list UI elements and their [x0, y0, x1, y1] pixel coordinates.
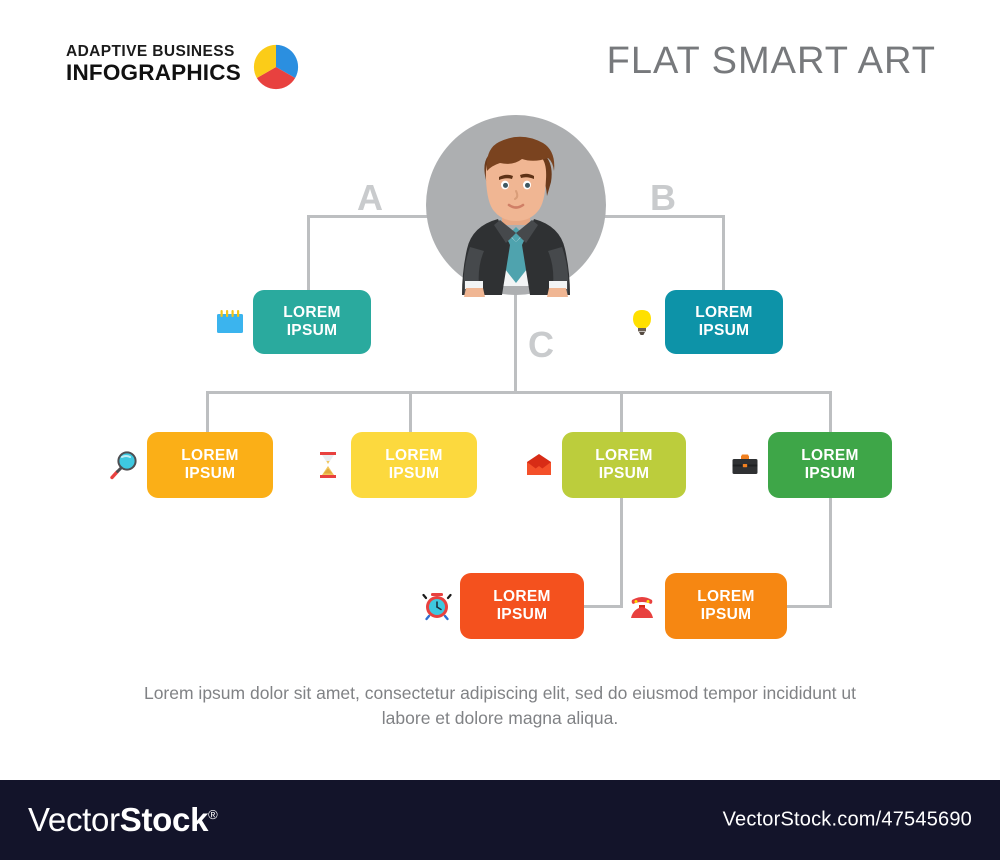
connector-a-drop	[307, 215, 310, 291]
connector-c-drop	[514, 288, 517, 394]
envelope-icon	[524, 450, 554, 480]
node-c4[interactable]: LOREM IPSUM	[768, 432, 892, 498]
node-d1-line2: IPSUM	[497, 606, 548, 624]
lightbulb-icon	[627, 307, 657, 337]
node-d2-box[interactable]: LOREM IPSUM	[665, 573, 787, 639]
connector-c3-to-d1-horizontal	[578, 605, 623, 608]
vectorstock-url: VectorStock.com/47545690	[723, 809, 972, 832]
node-b1[interactable]: LOREM IPSUM	[665, 290, 783, 354]
node-a1-box[interactable]: LOREM IPSUM	[253, 290, 371, 354]
node-c1-box[interactable]: LOREM IPSUM	[147, 432, 273, 498]
node-c2-line1: LOREM	[385, 447, 442, 465]
node-c3-box[interactable]: LOREM IPSUM	[562, 432, 686, 498]
connector-c3-drop	[620, 391, 623, 435]
node-c4-box[interactable]: LOREM IPSUM	[768, 432, 892, 498]
node-b1-line2: IPSUM	[699, 322, 750, 340]
node-a1-line2: IPSUM	[287, 322, 338, 340]
node-b1-line1: LOREM	[695, 304, 752, 322]
connector-c1-drop	[206, 391, 209, 435]
brand-logo: ADAPTIVE BUSINESS INFOGRAPHICS	[66, 44, 241, 85]
hourglass-icon	[313, 450, 343, 480]
node-d1[interactable]: LOREM IPSUM	[460, 573, 584, 639]
brand-logo-line2: INFOGRAPHICS	[66, 61, 241, 85]
node-b1-box[interactable]: LOREM IPSUM	[665, 290, 783, 354]
connector-row2-bus	[206, 391, 832, 394]
businessman-avatar	[424, 113, 608, 297]
page-title: FLAT SMART ART	[607, 40, 936, 83]
node-c4-line2: IPSUM	[805, 465, 856, 483]
node-c2-line2: IPSUM	[389, 465, 440, 483]
branch-label-b: B	[650, 180, 676, 216]
briefcase-icon	[730, 450, 760, 480]
node-c3-line2: IPSUM	[599, 465, 650, 483]
node-c1-line2: IPSUM	[185, 465, 236, 483]
connector-c4-to-d2-vertical	[829, 494, 832, 607]
telephone-icon	[627, 591, 657, 621]
node-c3[interactable]: LOREM IPSUM	[562, 432, 686, 498]
watermark-bar: VectorStock® VectorStock.com/47545690	[0, 780, 1000, 860]
pie-chart-icon	[253, 44, 299, 90]
node-c1[interactable]: LOREM IPSUM	[147, 432, 273, 498]
branch-label-c: C	[528, 327, 554, 363]
branch-label-a: A	[357, 180, 383, 216]
node-a1-line1: LOREM	[283, 304, 340, 322]
calendar-icon	[215, 307, 245, 337]
node-d2-line1: LOREM	[697, 588, 754, 606]
caption-text: Lorem ipsum dolor sit amet, consectetur …	[130, 681, 870, 732]
node-a1[interactable]: LOREM IPSUM	[253, 290, 371, 354]
brand-logo-line1: ADAPTIVE BUSINESS	[66, 44, 241, 60]
vectorstock-logo-thin: Vector	[28, 801, 120, 838]
node-d2-line2: IPSUM	[701, 606, 752, 624]
vectorstock-logo-bold: Stock	[120, 801, 208, 838]
connector-b-drop	[722, 215, 725, 291]
node-c4-line1: LOREM	[801, 447, 858, 465]
registered-mark: ®	[208, 807, 217, 822]
connector-c4-to-d2-horizontal	[785, 605, 832, 608]
infographic-canvas: ADAPTIVE BUSINESS INFOGRAPHICS FLAT SMAR…	[0, 0, 1000, 780]
magnifier-icon	[109, 450, 139, 480]
connector-c2-drop	[409, 391, 412, 435]
node-d1-line1: LOREM	[493, 588, 550, 606]
node-d2[interactable]: LOREM IPSUM	[665, 573, 787, 639]
node-c3-line1: LOREM	[595, 447, 652, 465]
vectorstock-logo: VectorStock®	[28, 801, 217, 839]
caption-line1: Lorem ipsum dolor sit amet, consectetur …	[144, 683, 758, 703]
node-d1-box[interactable]: LOREM IPSUM	[460, 573, 584, 639]
node-c2[interactable]: LOREM IPSUM	[351, 432, 477, 498]
node-c1-line1: LOREM	[181, 447, 238, 465]
connector-c3-to-d1-vertical	[620, 494, 623, 607]
alarm-clock-icon	[422, 591, 452, 621]
node-c2-box[interactable]: LOREM IPSUM	[351, 432, 477, 498]
connector-c4-drop	[829, 391, 832, 435]
